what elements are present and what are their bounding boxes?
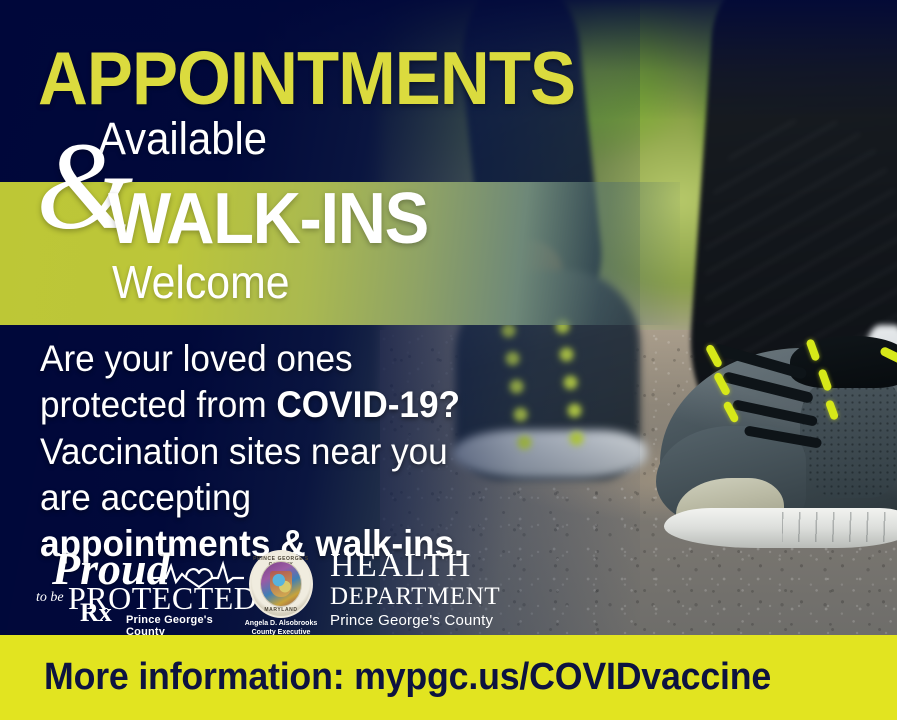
body-emphasis-covid: COVID-19? xyxy=(276,384,460,425)
health-word: HEALTH xyxy=(330,550,510,583)
more-information-banner: More information: mypgc.us/COVIDvaccine xyxy=(0,635,897,720)
banner-url-text: More information: mypgc.us/COVIDvaccine xyxy=(44,656,771,699)
headline-appointments: APPOINTMENTS xyxy=(38,44,470,113)
prince-georges-county-seal: PRINCE GEORGE'S COUNTY MARYLAND Angela D… xyxy=(249,550,313,618)
covid-vaccine-poster: APPOINTMENTS Available & WALK-INS Welcom… xyxy=(0,0,897,720)
rx-symbol: Rx xyxy=(80,598,112,628)
sneaker-outsole xyxy=(664,508,897,548)
headline-available: Available xyxy=(98,115,479,162)
department-word: DEPARTMENT xyxy=(330,584,510,610)
headline-walk-ins: WALK-INS xyxy=(108,186,428,254)
health-county-text: Prince George's County xyxy=(330,612,510,629)
seal-bottom-text: MARYLAND xyxy=(251,607,311,613)
heartbeat-ekg-icon xyxy=(152,556,244,588)
headline-welcome: Welcome xyxy=(112,258,290,306)
seal-coat-of-arms xyxy=(260,561,302,607)
logo-row: to be PROTECTED Rx Proud Prince George's… xyxy=(34,548,474,630)
body-text-part2: Vaccination sites near you are accepting xyxy=(40,431,448,518)
body-copy: Are your loved ones protected from COVID… xyxy=(40,336,468,567)
health-department-logo: HEALTH DEPARTMENT Prince George's County xyxy=(330,550,510,629)
foreground-sneaker xyxy=(650,330,897,580)
proud-to-be-protected-logo: to be PROTECTED Rx Proud Prince George's… xyxy=(34,548,240,626)
county-executive-credit: Angela D. Alsobrooks xyxy=(233,620,329,629)
